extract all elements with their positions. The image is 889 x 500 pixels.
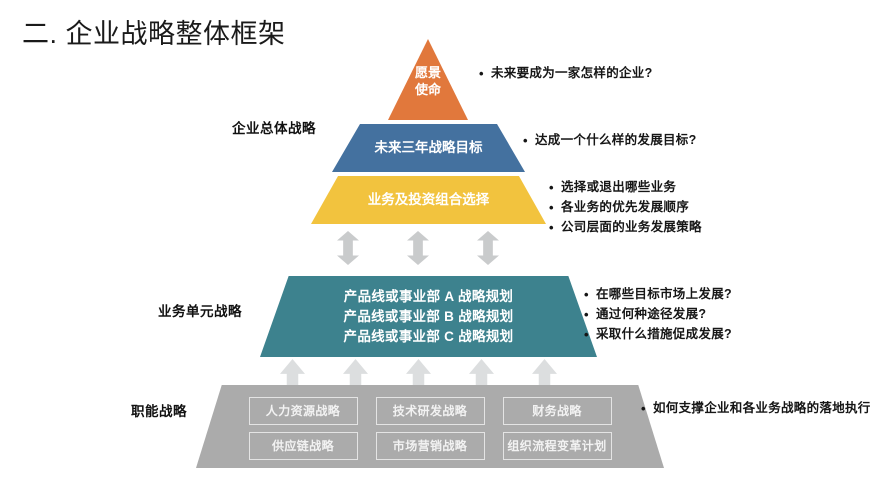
strategy-pyramid-diagram: 愿景 使命 未来三年战略目标 业务及投资组合选择 产品线或事业部 A 战略规划 …: [0, 0, 889, 500]
functional-box-hr[interactable]: 人力资源战略: [249, 397, 358, 425]
functional-box-supply-chain[interactable]: 供应链战略: [249, 432, 358, 460]
bullet-dot-icon: •: [584, 285, 596, 305]
vision-line-1: 愿景: [388, 65, 468, 82]
double-arrow-icon-3: [477, 231, 499, 265]
bullet-text: 各业务的优先发展顺序: [561, 198, 689, 217]
vision-line-2: 使命: [388, 82, 468, 99]
bullet-text: 选择或退出哪些业务: [561, 178, 676, 197]
portfolio-selection-label: 业务及投资组合选择: [368, 191, 490, 208]
business-unit-line-b: 产品线或事业部 B 战略规划: [344, 306, 514, 326]
pyramid-layer-functional[interactable]: 人力资源战略 技术研发战略 财务战略 供应链战略 市场营销战略 组织流程变革计划: [196, 385, 664, 468]
bullet-item: • 采取什么措施促成发展?: [584, 325, 732, 345]
bullet-dot-icon: •: [479, 64, 491, 84]
three-year-goal-label: 未来三年战略目标: [375, 139, 483, 156]
bullet-item: • 未来要成为一家怎样的企业?: [479, 64, 653, 84]
bullet-item: • 选择或退出哪些业务: [549, 178, 702, 198]
bullets-functional: • 如何支撑企业和各业务战略的落地执行: [641, 399, 871, 419]
bullet-text: 通过何种途径发展?: [596, 305, 706, 324]
business-unit-line-c: 产品线或事业部 C 战略规划: [344, 327, 514, 347]
double-arrow-icon-2: [407, 231, 429, 265]
bullet-item: • 公司层面的业务发展策略: [549, 218, 702, 238]
bullet-item: • 在哪些目标市场上发展?: [584, 285, 732, 305]
functional-box-rnd[interactable]: 技术研发战略: [376, 397, 485, 425]
pyramid-layer-portfolio-selection[interactable]: 业务及投资组合选择: [311, 176, 546, 224]
bullet-dot-icon: •: [584, 305, 596, 325]
bullet-dot-icon: •: [523, 131, 535, 151]
bullet-dot-icon: •: [584, 325, 596, 345]
functional-row-1: 人力资源战略 技术研发战略 财务战略: [249, 397, 612, 425]
bullet-dot-icon: •: [641, 399, 653, 419]
bullets-vision: • 未来要成为一家怎样的企业?: [479, 64, 653, 84]
pyramid-layer-business-unit[interactable]: 产品线或事业部 A 战略规划 产品线或事业部 B 战略规划 产品线或事业部 C …: [260, 276, 597, 357]
vision-text-block: 愿景 使命: [388, 65, 468, 98]
bullet-dot-icon: •: [549, 198, 561, 218]
bullet-text: 采取什么措施促成发展?: [596, 325, 732, 344]
bullets-three-year-goal: • 达成一个什么样的发展目标?: [523, 131, 697, 151]
double-arrow-icon-1: [337, 231, 359, 265]
pyramid-layer-three-year-goal[interactable]: 未来三年战略目标: [332, 124, 525, 172]
pyramid-layer-vision-mission[interactable]: 愿景 使命: [388, 39, 468, 120]
bullets-business-unit: • 在哪些目标市场上发展? • 通过何种途径发展? • 采取什么措施促成发展?: [584, 285, 732, 345]
bullet-text: 达成一个什么样的发展目标?: [535, 131, 697, 150]
bullet-item: • 如何支撑企业和各业务战略的落地执行: [641, 399, 871, 419]
functional-box-marketing[interactable]: 市场营销战略: [376, 432, 485, 460]
bullet-text: 未来要成为一家怎样的企业?: [491, 64, 653, 83]
functional-box-finance[interactable]: 财务战略: [503, 397, 612, 425]
business-unit-line-a: 产品线或事业部 A 战略规划: [344, 286, 513, 306]
bullet-item: • 各业务的优先发展顺序: [549, 198, 702, 218]
bullet-text: 在哪些目标市场上发展?: [596, 285, 732, 304]
bullet-dot-icon: •: [549, 218, 561, 238]
bullet-text: 如何支撑企业和各业务战略的落地执行: [653, 399, 871, 418]
functional-strategy-grid: 人力资源战略 技术研发战略 财务战略 供应链战略 市场营销战略 组织流程变革计划: [196, 385, 664, 468]
functional-box-org-process[interactable]: 组织流程变革计划: [503, 432, 612, 460]
bullet-text: 公司层面的业务发展策略: [561, 218, 702, 237]
bullet-dot-icon: •: [549, 178, 561, 198]
bullet-item: • 通过何种途径发展?: [584, 305, 732, 325]
bullet-item: • 达成一个什么样的发展目标?: [523, 131, 697, 151]
bullets-portfolio: • 选择或退出哪些业务 • 各业务的优先发展顺序 • 公司层面的业务发展策略: [549, 178, 702, 238]
functional-row-2: 供应链战略 市场营销战略 组织流程变革计划: [249, 432, 612, 460]
